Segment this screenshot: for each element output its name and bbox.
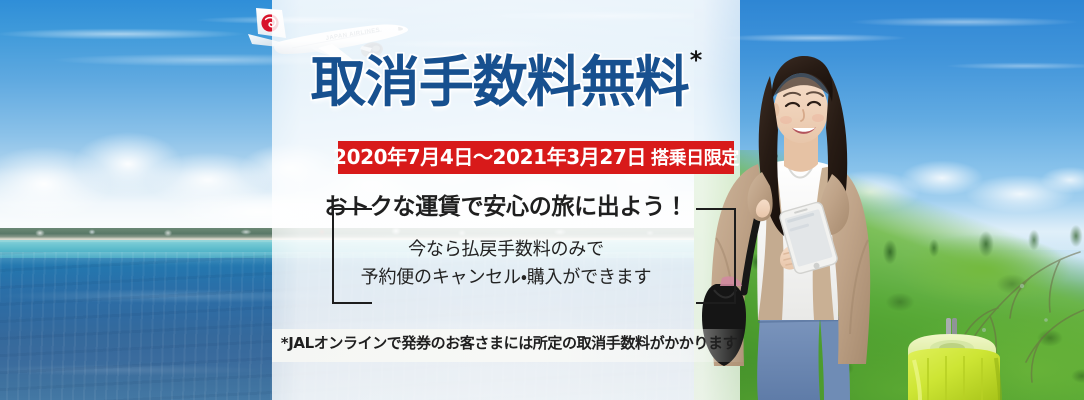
- page-title: 取消手数料無料*: [272, 55, 740, 110]
- campaign-period-badge: 2020年7月4日〜2021年3月27日搭乗日限定: [338, 141, 734, 174]
- campaign-period-qualifier: 搭乗日限定: [651, 148, 739, 169]
- bracket-left-bottom-arm: [332, 302, 372, 304]
- asterisk-marker: *: [690, 46, 703, 74]
- body-copy: 今なら払戻手数料のみで 予約便のキャンセル・購入ができます: [272, 236, 740, 292]
- body-copy-line-2: 予約便のキャンセル・購入ができます: [272, 264, 740, 292]
- hillside-scene: [694, 0, 1084, 400]
- right-sky: [694, 0, 1084, 400]
- subheading: おトクな運賃で安心の旅に出よう！: [272, 196, 740, 219]
- headline-text: 取消手数料無料: [311, 50, 689, 114]
- bracket-right-bottom-arm: [696, 302, 736, 304]
- body-copy-line-1: 今なら払戻手数料のみで: [272, 236, 740, 264]
- campaign-period-range: 2020年7月4日〜2021年3月27日: [333, 145, 646, 169]
- jal-campaign-banner[interactable]: JAPAN AIRLINES: [0, 0, 1084, 400]
- campaign-period-text: 2020年7月4日〜2021年3月27日搭乗日限定: [333, 147, 739, 168]
- footnote-text: *JALオンラインで発券のお客さまには所定の取消手数料がかかります: [272, 336, 746, 351]
